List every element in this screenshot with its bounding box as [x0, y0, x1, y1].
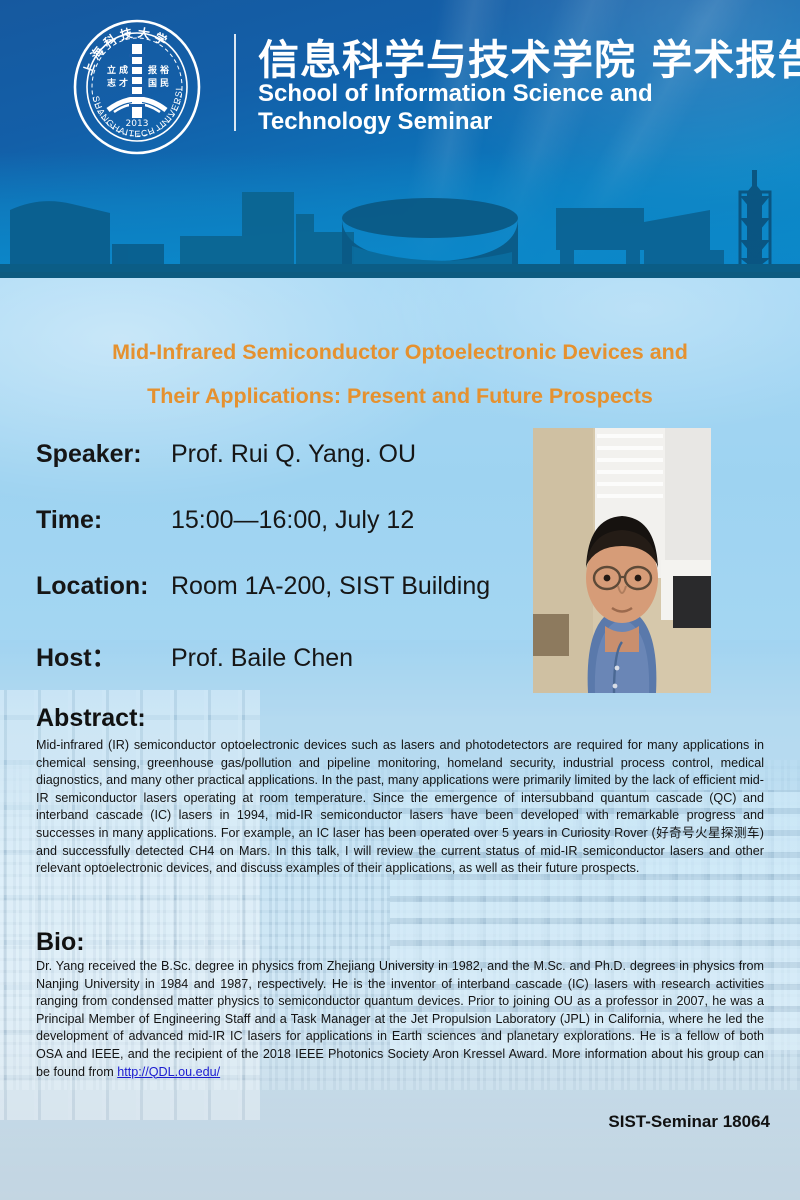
svg-text:成: 成 — [119, 64, 128, 76]
svg-text:志: 志 — [107, 77, 116, 89]
bio-heading: Bio: — [36, 928, 85, 957]
speaker-label: Speaker: — [36, 440, 171, 469]
speaker-photo — [533, 428, 711, 693]
speaker-value: Prof. Rui Q. Yang. OU — [171, 440, 416, 469]
seminar-poster: 立成 报裕 志才 国民 2013 上 海 科 技 大 学 SHANGHAITEC… — [0, 0, 800, 1200]
header-title-english: School of Information Science and Techno… — [258, 80, 653, 136]
seminar-details: Speaker: Prof. Rui Q. Yang. OU Time: 15:… — [36, 440, 536, 704]
header-divider-line — [234, 34, 236, 131]
location-label: Location: — [36, 572, 171, 601]
talk-title: Mid-Infrared Semiconductor Optoelectroni… — [60, 330, 740, 418]
svg-text:才: 才 — [119, 77, 128, 89]
svg-text:立: 立 — [107, 64, 116, 76]
abstract-heading: Abstract: — [36, 704, 146, 733]
header-title-chinese: 信息科学与技术学院 学术报告 — [258, 26, 800, 86]
location-row: Location: Room 1A-200, SIST Building — [36, 572, 536, 638]
host-value: Prof. Baile Chen — [171, 644, 353, 673]
time-label: Time: — [36, 506, 171, 535]
bio-paragraph: Dr. Yang received the B.Sc. degree in ph… — [36, 959, 764, 1079]
host-row: Host： Prof. Baile Chen — [36, 638, 536, 704]
svg-text:裕: 裕 — [159, 64, 169, 76]
header-title-english-line2: Technology Seminar — [258, 108, 653, 136]
host-label: Host： — [36, 638, 171, 674]
bio-group-link[interactable]: http://QDL.ou.edu/ — [117, 1065, 220, 1079]
city-skyline-silhouette — [0, 162, 800, 272]
header-title-english-line1: School of Information Science and — [258, 80, 653, 108]
speaker-portrait-image — [533, 428, 711, 693]
seminar-number: SIST-Seminar 18064 — [608, 1112, 770, 1132]
svg-text:民: 民 — [160, 78, 169, 89]
svg-text:国: 国 — [148, 78, 157, 89]
header-banner: 立成 报裕 志才 国民 2013 上 海 科 技 大 学 SHANGHAITEC… — [0, 0, 800, 272]
time-value: 15:00—16:00, July 12 — [171, 506, 414, 535]
talk-title-line2: Their Applications: Present and Future P… — [60, 374, 740, 418]
banner-divider-strip — [0, 272, 800, 278]
talk-title-line1: Mid-Infrared Semiconductor Optoelectroni… — [60, 330, 740, 374]
time-row: Time: 15:00—16:00, July 12 — [36, 506, 536, 572]
abstract-text: Mid-infrared (IR) semiconductor optoelec… — [36, 737, 764, 878]
shanghaitech-logo-icon: 立成 报裕 志才 国民 2013 上 海 科 技 大 学 SHANGHAITEC… — [64, 18, 210, 156]
bio-text: Dr. Yang received the B.Sc. degree in ph… — [36, 958, 764, 1081]
banner-bottom-bar — [0, 264, 800, 272]
speaker-row: Speaker: Prof. Rui Q. Yang. OU — [36, 440, 536, 506]
svg-text:报: 报 — [148, 64, 157, 76]
location-value: Room 1A-200, SIST Building — [171, 572, 490, 601]
logo-year-text: 2013 — [126, 119, 149, 129]
